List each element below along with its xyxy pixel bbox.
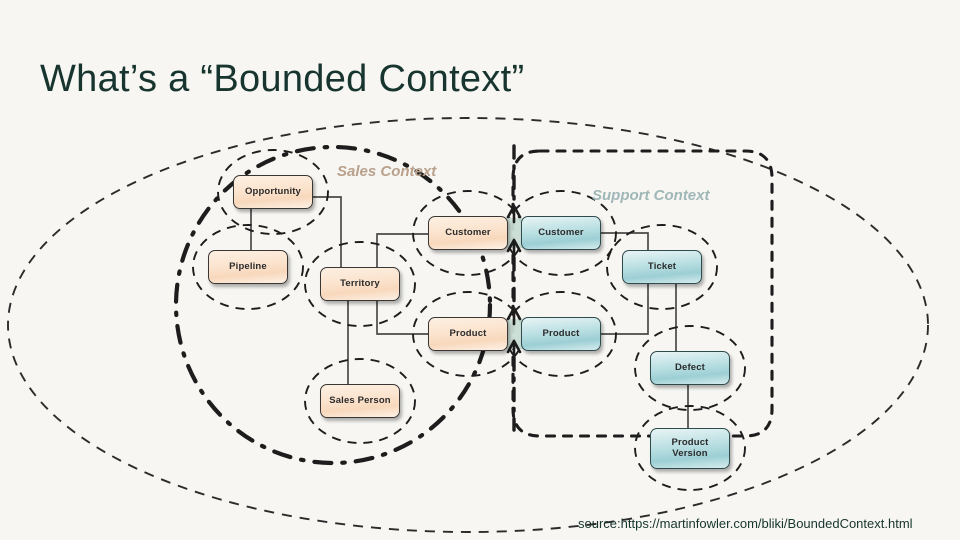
node-sales-person[interactable]: Sales Person: [320, 384, 400, 418]
node-opportunity[interactable]: Opportunity: [233, 175, 313, 209]
source-attribution: source:https://martinfowler.com/bliki/Bo…: [578, 516, 913, 531]
edge-customer-ticket: [601, 233, 648, 250]
edge-territory-customer: [377, 234, 428, 267]
node-defect[interactable]: Defect: [650, 351, 730, 385]
node-pipeline[interactable]: Pipeline: [208, 250, 288, 284]
node-product-version[interactable]: Product Version: [650, 428, 730, 469]
slide-canvas: What’s a “Bounded Context”: [0, 0, 960, 540]
node-customer-sales[interactable]: Customer: [428, 216, 508, 250]
node-customer-support[interactable]: Customer: [521, 216, 601, 250]
edge-territory-product: [377, 301, 428, 334]
support-context-boundary: [513, 151, 772, 436]
node-product-sales[interactable]: Product: [428, 317, 508, 351]
node-ticket[interactable]: Ticket: [622, 250, 702, 284]
edge-product-ticket: [601, 284, 648, 334]
node-territory[interactable]: Territory: [320, 267, 400, 301]
bounded-context-diagram: [0, 0, 960, 540]
context-separator: [508, 146, 520, 430]
node-product-support[interactable]: Product: [521, 317, 601, 351]
